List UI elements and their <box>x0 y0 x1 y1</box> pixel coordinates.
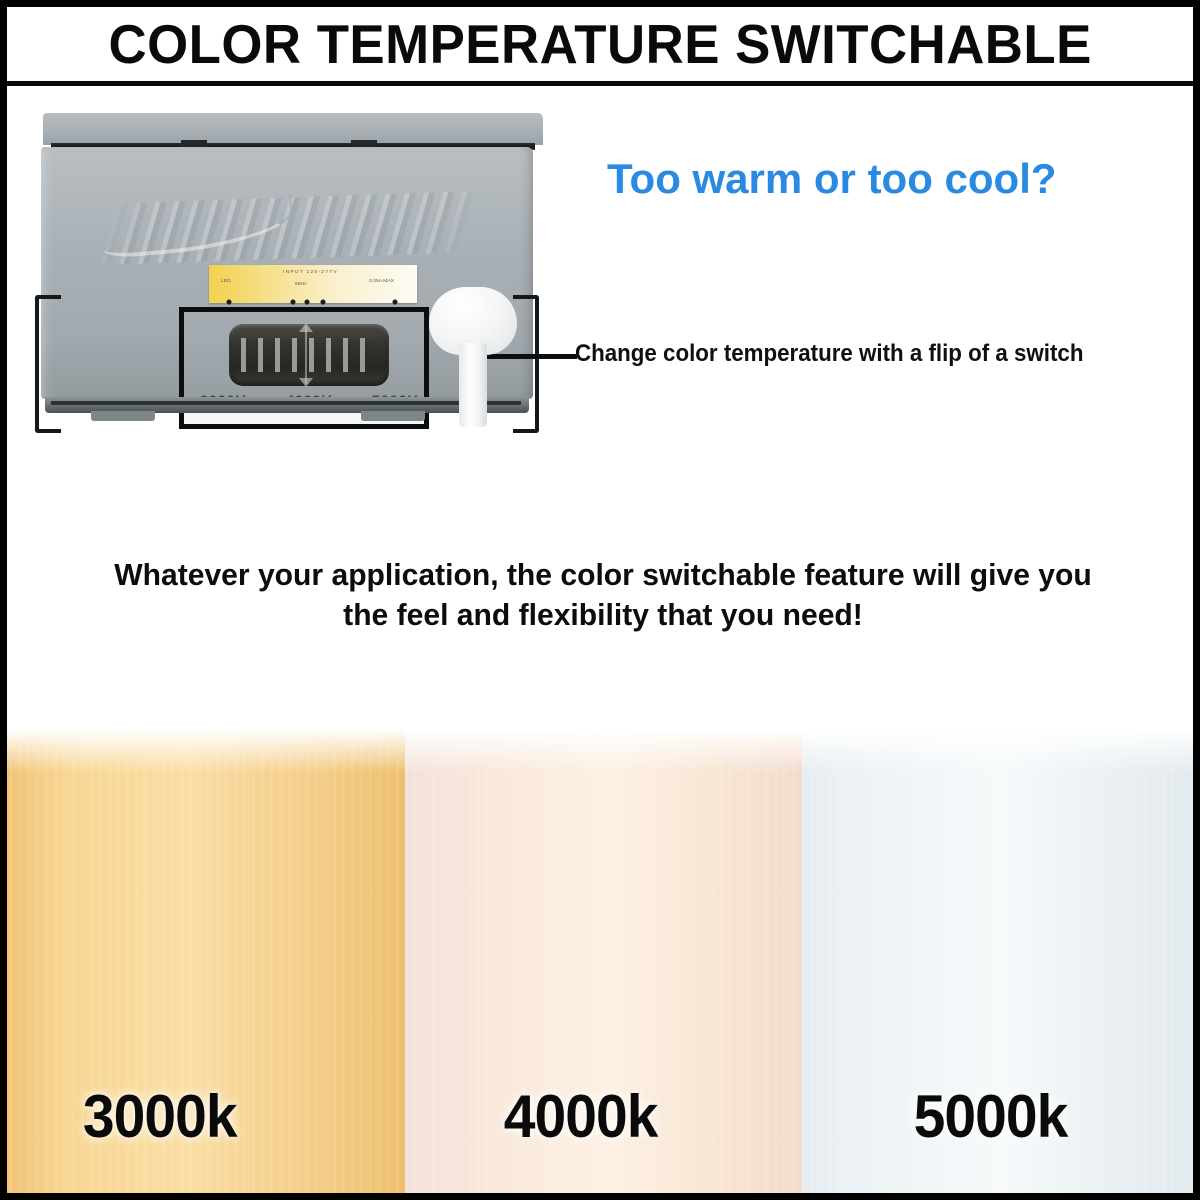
marketing-blurb: Whatever your application, the color swi… <box>70 555 1137 634</box>
swatch-4000k: 4000k <box>405 729 802 1200</box>
header-banner: COLOR TEMPERATURE SWITCHABLE <box>7 7 1193 86</box>
color-temperature-swatches: 3000k 4000k 5000k <box>0 729 1200 1200</box>
spec-label-line4: LED <box>221 278 231 283</box>
swatch-5000k-label: 5000k <box>812 1082 1190 1151</box>
housing-foot-left <box>91 411 155 421</box>
page-title: COLOR TEMPERATURE SWITCHABLE <box>108 17 1091 72</box>
infographic-root: COLOR TEMPERATURE SWITCHABLE INPUT 120-2… <box>0 0 1200 1200</box>
spec-label-line3: 0.35A MAX <box>369 278 394 283</box>
label-pin-dots-icon <box>223 299 405 305</box>
callout-label: Change color temperature with a flip of … <box>575 340 1083 368</box>
dip-switch-pointer-icon <box>305 326 307 384</box>
dip-switch-teeth-icon <box>241 338 377 372</box>
swatch-4000k-top-fade <box>405 729 802 773</box>
dip-switch[interactable] <box>229 324 389 386</box>
spec-label: INPUT 120-277V LED 60Hz 0.35A MAX <box>209 265 417 303</box>
flip-tool-stem-icon <box>459 343 487 427</box>
spec-label-line1: INPUT 120-277V <box>283 269 338 274</box>
spec-label-line2: 60Hz <box>295 281 307 286</box>
housing-foot-right <box>361 411 425 421</box>
blurb-line-2: the feel and flexibility that you need! <box>70 595 1137 635</box>
headline-question: Too warm or too cool? <box>607 155 1057 203</box>
swatch-5000k-top-fade <box>802 729 1200 773</box>
blurb-line-1: Whatever your application, the color swi… <box>70 555 1137 595</box>
swatch-3000k-top-fade <box>0 729 405 773</box>
swatch-3000k-label: 3000k <box>10 1082 395 1151</box>
swatch-5000k: 5000k <box>802 729 1200 1200</box>
product-photo: INPUT 120-277V LED 60Hz 0.35A MAX 3000K … <box>13 105 573 445</box>
switch-flip-tool[interactable] <box>429 287 517 427</box>
swatch-4000k-label: 4000k <box>415 1082 792 1151</box>
housing-lid <box>43 113 543 145</box>
swatch-3000k: 3000k <box>0 729 405 1200</box>
